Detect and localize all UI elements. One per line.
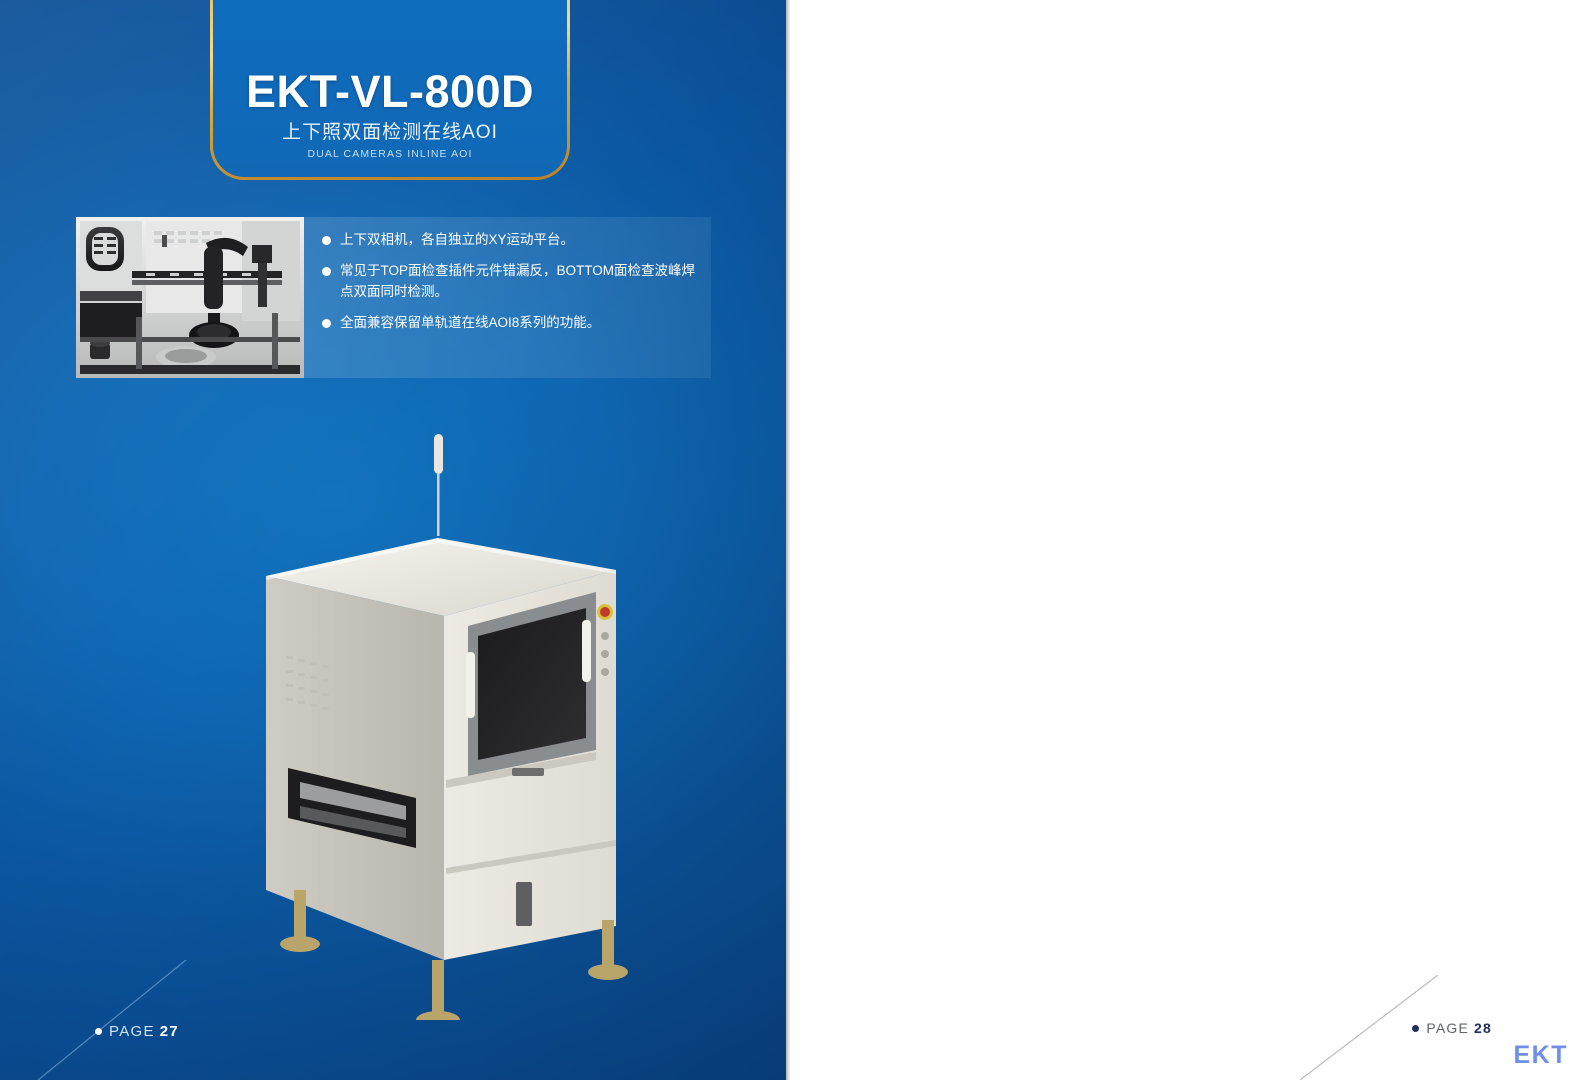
aoi-machine-photo bbox=[230, 420, 650, 1020]
list-item: 常见于TOP面检查插件元件错漏反，BOTTOM面检查波峰焊点双面同时检测。 bbox=[322, 261, 697, 302]
page-value: 27 bbox=[160, 1023, 179, 1040]
bullet-dot-icon bbox=[322, 267, 331, 276]
product-subtitle-en: DUAL CAMERAS INLINE AOI bbox=[308, 149, 473, 160]
feature-bullet-list: 上下双相机，各自独立的XY运动平台。 常见于TOP面检查插件元件错漏反，BOTT… bbox=[304, 217, 711, 378]
page-dot-icon bbox=[1412, 1025, 1419, 1032]
page-label: PAGE bbox=[1426, 1020, 1469, 1036]
interior-photo-graphic bbox=[76, 217, 304, 378]
decorative-diagonal-line bbox=[38, 960, 188, 1080]
bullet-dot-icon bbox=[322, 319, 331, 328]
brand-logo: EKT bbox=[1514, 1041, 1569, 1070]
interior-mechanism-photo bbox=[76, 217, 304, 378]
brochure-spread: EKT-VL-800D 上下照双面检测在线AOI DUAL CAMERAS IN… bbox=[0, 0, 1590, 1080]
page-number-right: PAGE 28 bbox=[1412, 1020, 1492, 1036]
product-model-name: EKT-VL-800D bbox=[246, 69, 534, 114]
page-number-left: PAGE 27 bbox=[95, 1023, 179, 1040]
left-page: EKT-VL-800D 上下照双面检测在线AOI DUAL CAMERAS IN… bbox=[0, 0, 786, 1080]
right-page: TECHNICAL PARAMETERS OF EQUIPMENT 设备技术参数… bbox=[786, 0, 1590, 1080]
bullet-dot-icon bbox=[322, 236, 331, 245]
page-value: 28 bbox=[1474, 1020, 1492, 1036]
product-title-frame: EKT-VL-800D 上下照双面检测在线AOI DUAL CAMERAS IN… bbox=[210, 0, 570, 180]
product-subtitle-cn: 上下照双面检测在线AOI bbox=[282, 123, 498, 142]
page-gutter bbox=[786, 0, 790, 1080]
aoi-machine-graphic bbox=[230, 420, 650, 1020]
feature-band: 上下双相机，各自独立的XY运动平台。 常见于TOP面检查插件元件错漏反，BOTT… bbox=[76, 217, 711, 378]
page-dot-icon bbox=[95, 1028, 102, 1035]
list-item: 全面兼容保留单轨道在线AOI8系列的功能。 bbox=[322, 313, 697, 333]
page-label: PAGE bbox=[109, 1023, 155, 1040]
list-item: 上下双相机，各自独立的XY运动平台。 bbox=[322, 230, 697, 250]
